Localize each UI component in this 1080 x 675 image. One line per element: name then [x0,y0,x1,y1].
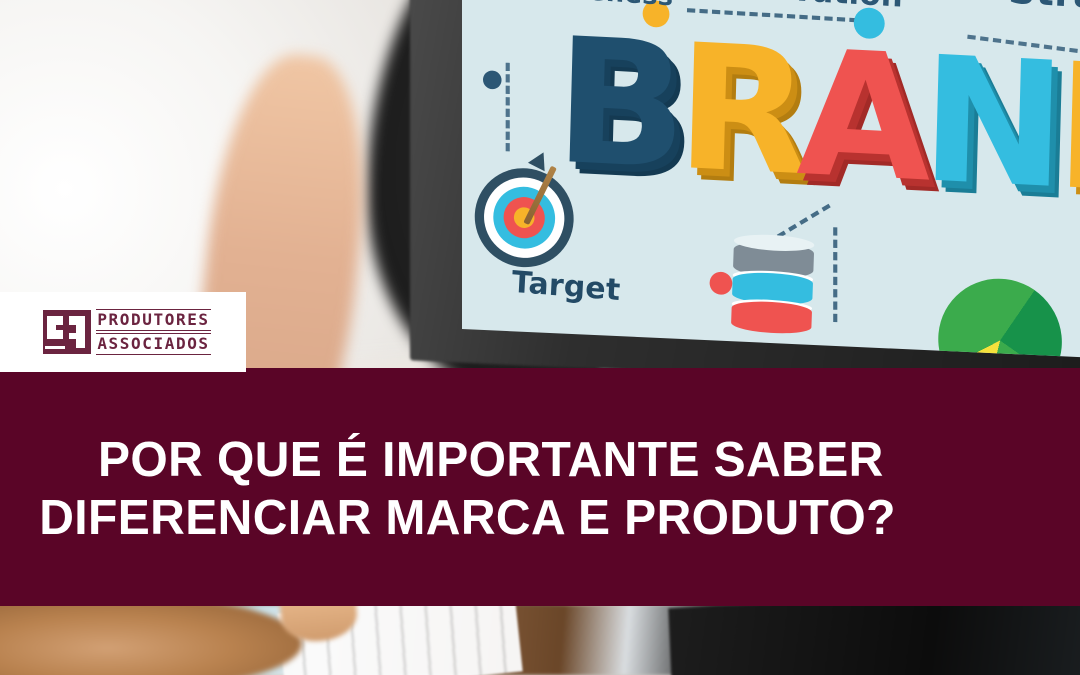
title-banner: POR QUE É IMPORTANTE SABER DIFERENCIAR M… [0,368,1080,606]
typing-hand [0,605,302,675]
dartboard-icon [468,163,580,273]
dashed-line-vertical-2 [833,227,837,322]
logo-line-1: PRODUTORES [96,309,210,331]
brand-letter-d: D [1054,45,1080,216]
screen-content: Awareness Innovation Strate BRAND [462,0,1080,358]
laptop-screen: Awareness Innovation Strate BRAND [462,0,1080,359]
decorative-dot-navy [483,70,502,89]
brand-letter-n: N [919,38,1064,209]
brand-letter-a: A [795,32,929,203]
logo-text: PRODUTORES ASSOCIADOS [96,309,210,355]
brand-letter-b: B [553,20,685,191]
pa-monogram-icon [43,310,91,354]
keyword-target: Target [511,264,621,307]
stacked-cylinder-chart [731,240,815,344]
brand-letter-r: R [675,26,808,197]
bottom-laptop [668,605,1080,675]
slide-canvas: Awareness Innovation Strate BRAND [0,0,1080,675]
logo-box: PRODUTORES ASSOCIADOS [0,292,246,372]
dashed-line-vertical [506,63,510,152]
title-line-2: DIFERENCIAR MARCA E PRODUTO? [0,490,1058,548]
logo-line-2: ASSOCIADOS [96,333,210,355]
pie-chart [932,274,1068,359]
title-block: POR QUE É IMPORTANTE SABER DIFERENCIAR M… [0,368,1080,606]
brand-logo: PRODUTORES ASSOCIADOS [43,309,210,355]
arrow-fletching [528,148,552,171]
decorative-dot-red [710,272,733,295]
bottom-photo-strip [0,605,1080,675]
brand-wordmark: BRAND [553,20,1080,217]
cylinder-segment-red [731,300,812,336]
title-line-1: POR QUE É IMPORTANTE SABER [0,432,1058,490]
main-laptop: Awareness Innovation Strate BRAND [410,0,1080,376]
keyword-strategy: Strate [1008,0,1080,20]
